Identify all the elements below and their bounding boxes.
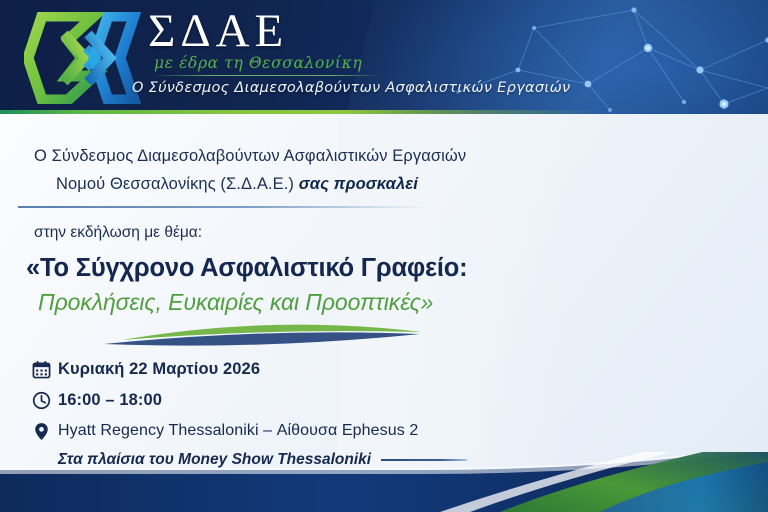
invitation-line-2: Νομού Θεσσαλονίκης (Σ.Δ.Α.Ε.) σας προσκα… [34, 170, 524, 198]
poster-header: ΣΔΑΕ με έδρα τη Θεσσαλονίκη Ο Σύνδεσμος … [0, 0, 768, 114]
invitation-paragraph: Ο Σύνδεσμος Διαμεσολαβούντων Ασφαλιστικώ… [34, 142, 524, 199]
sdae-logo-icon [24, 12, 144, 104]
footer-swoosh-graphic [0, 452, 768, 512]
invitation-line-1: Ο Σύνδεσμος Διαμεσολαβούντων Ασφαλιστικώ… [34, 142, 524, 170]
logo-underline [152, 75, 380, 76]
detail-row-time: 16:00 – 18:00 [32, 389, 502, 411]
header-tagline: Ο Σύνδεσμος Διαμεσολαβούντων Ασφαλιστικώ… [132, 80, 570, 96]
section-divider-rule [18, 206, 430, 208]
event-title-line-1: «Το Σύγχρονο Ασφαλιστικό Γραφείο: [26, 254, 526, 283]
detail-row-date: Κυριακή 22 Μαρτίου 2026 [32, 358, 502, 380]
event-date: Κυριακή 22 Μαρτίου 2026 [58, 360, 260, 379]
logo-acronym: ΣΔΑΕ [148, 8, 380, 56]
event-title-line-2: Προκλήσεις, Ευκαιρίες και Προοπτικές» [26, 289, 526, 316]
logo-subtitle: με έδρα τη Θεσσαλονίκη [148, 54, 380, 72]
logo-wordmark: ΣΔΑΕ με έδρα τη Θεσσαλονίκη [148, 8, 380, 76]
event-time: 16:00 – 18:00 [58, 391, 162, 410]
event-poster: ΣΔΑΕ με έδρα τη Θεσσαλονίκη Ο Σύνδεσμος … [0, 0, 768, 512]
calendar-icon [32, 358, 58, 380]
event-venue: Hyatt Regency Thessaloniki – Αίθουσα Eph… [58, 422, 418, 440]
clock-icon [32, 389, 58, 411]
poster-footer [0, 452, 768, 512]
decorative-swoosh [100, 322, 430, 348]
location-pin-icon [32, 420, 58, 442]
invitation-line-2-emphasis: σας προσκαλεί [299, 175, 418, 193]
invitation-subline: στην εκδήλωση με θέμα: [34, 224, 202, 242]
invitation-line-2-plain: Νομού Θεσσαλονίκης (Σ.Δ.Α.Ε.) [56, 175, 299, 193]
event-title: «Το Σύγχρονο Ασφαλιστικό Γραφείο: Προκλή… [26, 254, 526, 316]
network-plexus-overlay-icon [438, 0, 768, 114]
detail-row-venue: Hyatt Regency Thessaloniki – Αίθουσα Eph… [32, 420, 502, 442]
